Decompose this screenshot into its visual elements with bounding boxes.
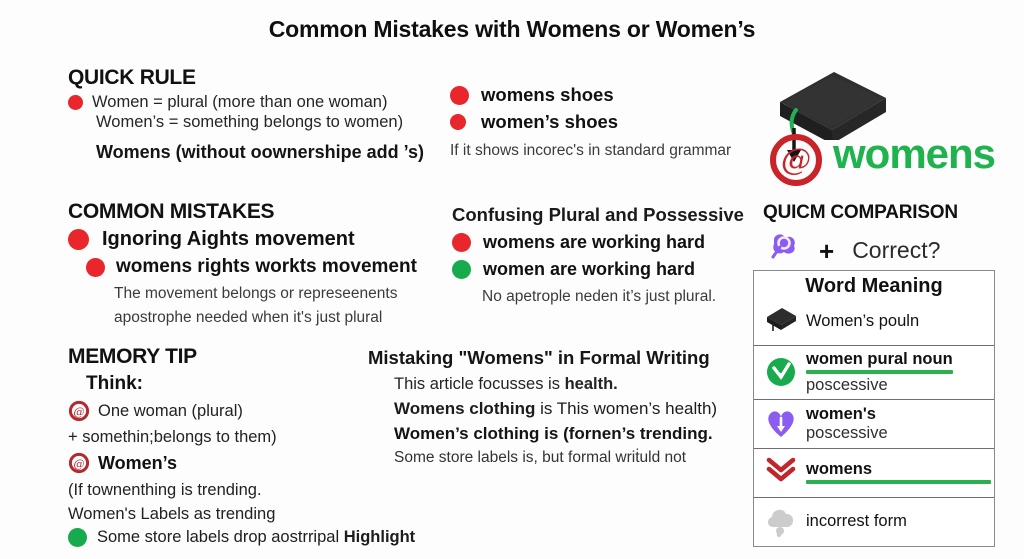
memory-tip-line-2: Women's Labels as trending bbox=[68, 505, 415, 524]
brand-word-text: womens bbox=[833, 130, 995, 178]
formal-line-4: Some store labels is, but formal wriṫuld… bbox=[394, 449, 717, 467]
shoes-item-2: women’s shoes bbox=[450, 111, 731, 133]
memory-tip-row-2-text: Women’s bbox=[98, 453, 177, 474]
svg-text:@: @ bbox=[781, 143, 811, 178]
quick-comparison-label: Correct? bbox=[852, 237, 940, 264]
common-mistakes-bullet-1-text: Ignoring Aights movement bbox=[102, 228, 355, 251]
formal-line-2-text: is This women’s health) bbox=[535, 399, 717, 418]
green-bullet-icon bbox=[68, 528, 87, 547]
formal-line-1-bold: health. bbox=[565, 375, 618, 393]
quick-rule-section: QUICK RULE Women = plural (more than one… bbox=[68, 66, 424, 163]
word-meaning-row: women pural noun poscessive bbox=[754, 345, 994, 399]
formal-line-1-text: This article focusses is bbox=[394, 375, 565, 393]
shoes-item-1: womens shoes bbox=[450, 84, 731, 106]
confusing-bad-example: womens are working hard bbox=[452, 232, 744, 253]
memory-tip-row-1: @ One woman (plural) bbox=[68, 400, 415, 422]
red-bullet-icon bbox=[68, 95, 83, 110]
quick-rule-line-1-text: Women = plural (more than one woman) bbox=[92, 93, 387, 112]
memory-tip-plus-line: + somethin;belongs to them) bbox=[68, 428, 415, 447]
red-bullet-icon bbox=[68, 229, 89, 250]
word-meaning-card: Word Meaning Women’s pouln bbox=[753, 270, 995, 547]
green-bullet-icon bbox=[452, 260, 471, 279]
common-mistakes-section: COMMON MISTAKES Ignoring Aights movement… bbox=[68, 200, 417, 327]
word-meaning-row: Women’s pouln bbox=[754, 301, 994, 345]
common-mistakes-note-1: The movement belongs or represeenents bbox=[114, 285, 417, 303]
word-meaning-row-line1: women's bbox=[806, 405, 876, 423]
plus-icon: + bbox=[819, 238, 834, 264]
formal-writing-heading: Mistaking "Womens" in Formal Writing bbox=[368, 347, 717, 369]
svg-text:@: @ bbox=[74, 458, 85, 471]
at-sign-circle-icon: @ bbox=[68, 452, 90, 474]
shoes-note: If it shows incorec's in standard gramma… bbox=[450, 142, 731, 160]
red-double-chevron-down-icon bbox=[764, 456, 798, 490]
word-meaning-row: incorrest form bbox=[754, 497, 994, 546]
infographic-canvas: Common Mistakes with Womens or Women’s Q… bbox=[0, 0, 1024, 559]
memory-tip-row-1-text: One woman (plural) bbox=[98, 402, 243, 421]
word-meaning-row: women's poscessive bbox=[754, 399, 994, 448]
word-meaning-title: Word Meaning bbox=[754, 271, 994, 301]
confusing-good-text: women are working hard bbox=[483, 259, 695, 280]
at-sign-circle-icon: @ bbox=[68, 400, 90, 422]
common-mistakes-bullet-2-text: womens rights workts movement bbox=[116, 256, 417, 278]
quick-rule-line-2: Women’s = something belongs to women) bbox=[96, 113, 424, 132]
word-meaning-row-line1: Women’s pouln bbox=[806, 312, 919, 330]
confusing-good-example: women are working hard bbox=[452, 259, 744, 280]
dark-book-icon bbox=[764, 304, 798, 338]
formal-writing-section: Mistaking "Womens" in Formal Writing Thi… bbox=[368, 347, 717, 467]
red-bullet-icon bbox=[450, 114, 466, 130]
common-mistakes-bullet-2: womens rights workts movement bbox=[86, 256, 417, 278]
green-check-down-arrow-icon bbox=[764, 355, 798, 389]
memory-tip-row-2: @ Women’s bbox=[68, 452, 415, 474]
page-title: Common Mistakes with Womens or Women’s bbox=[0, 16, 1024, 43]
red-bullet-icon bbox=[86, 258, 105, 277]
word-meaning-row-line1: womens bbox=[806, 460, 872, 478]
shoes-item-1-text: womens shoes bbox=[481, 84, 614, 106]
quick-rule-line-3: Womens (without oownershipe add ’s) bbox=[96, 142, 424, 163]
red-bullet-icon bbox=[450, 86, 469, 105]
word-meaning-row-line2: poscessive bbox=[806, 424, 888, 442]
common-mistakes-bullet-1: Ignoring Aights movement bbox=[68, 228, 417, 251]
memory-tip-row-3-highlight: Highlight bbox=[344, 528, 415, 546]
memory-tip-heading: MEMORY TIP bbox=[68, 345, 415, 369]
purple-heart-down-arrow-icon bbox=[764, 407, 798, 441]
word-meaning-row-line2: poscessive bbox=[806, 376, 888, 394]
common-mistakes-note-2: apostrophe needed when it's just plural bbox=[114, 309, 417, 327]
red-bullet-icon bbox=[452, 233, 471, 252]
brand-logo-block: @ womens bbox=[760, 68, 1015, 188]
svg-text:@: @ bbox=[74, 406, 85, 419]
at-sign-circle-icon: @ bbox=[768, 132, 824, 193]
quick-rule-heading: QUICK RULE bbox=[68, 66, 424, 90]
memory-tip-row-3: Some store labels drop aostrripal Highli… bbox=[68, 528, 415, 547]
gray-cloud-icon bbox=[764, 505, 798, 539]
word-meaning-row: womens bbox=[754, 448, 994, 497]
shoes-example-block: womens shoes women’s shoes If it shows i… bbox=[450, 84, 731, 160]
confusing-note: No apetrople neden it’s just plural. bbox=[482, 288, 744, 306]
quick-comparison-section: QUICM COMPARISON + Correct? bbox=[763, 202, 958, 271]
confusing-bad-text: womens are working hard bbox=[483, 232, 705, 253]
green-underline-bar bbox=[806, 370, 953, 374]
memory-tip-section: MEMORY TIP Think: @ One woman (plural) +… bbox=[68, 345, 415, 547]
quick-comparison-row: + Correct? bbox=[763, 230, 958, 271]
common-mistakes-heading: COMMON MISTAKES bbox=[68, 200, 417, 224]
confusing-heading: Confusing Plural and Possessive bbox=[452, 204, 744, 226]
green-underline-bar bbox=[806, 480, 991, 484]
purple-magnifier-cloud-icon bbox=[763, 230, 803, 271]
memory-tip-think-label: Think: bbox=[86, 373, 415, 395]
quick-rule-line-1: Women = plural (more than one woman) bbox=[68, 93, 424, 112]
word-meaning-row-line1: women pural noun bbox=[806, 350, 953, 368]
formal-line-2-bold: Womens clothing bbox=[394, 399, 535, 418]
quick-comparison-heading: QUICM COMPARISON bbox=[763, 202, 958, 224]
memory-tip-line-1: (If townenthing is trending. bbox=[68, 481, 415, 500]
memory-tip-row-3-text: Some store labels drop aostrripal bbox=[97, 528, 344, 546]
formal-line-3: Women’s clothing is (fornen’s trending. bbox=[394, 424, 717, 444]
shoes-item-2-text: women’s shoes bbox=[481, 111, 618, 133]
confusing-section: Confusing Plural and Possessive womens a… bbox=[452, 204, 744, 306]
word-meaning-row-line1: incorrest form bbox=[806, 512, 907, 530]
